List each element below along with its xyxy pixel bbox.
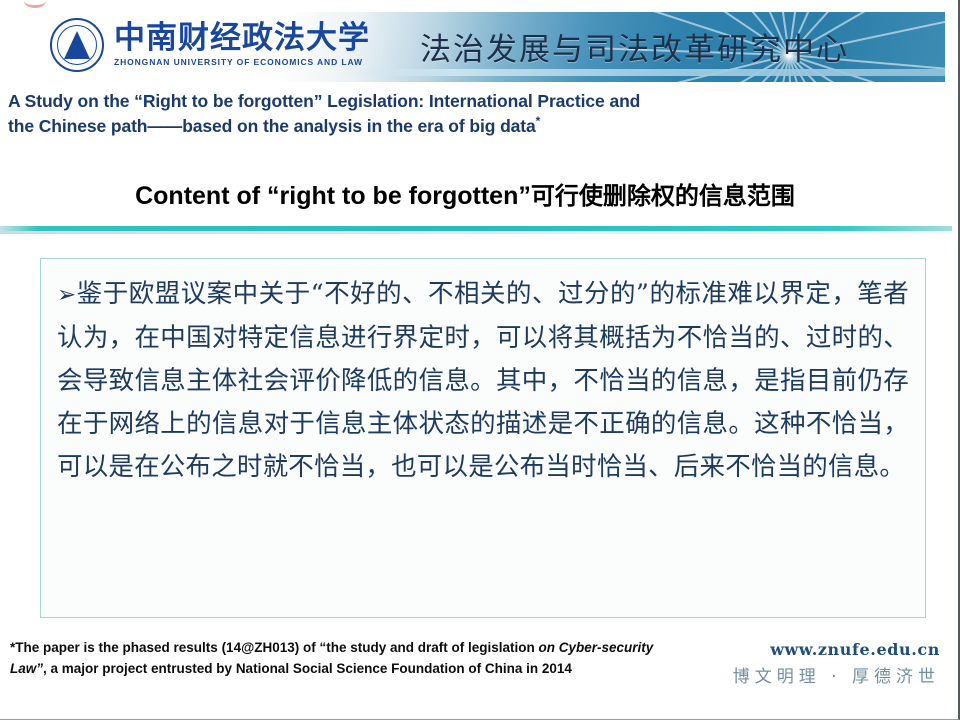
brand-motto: 博文明理 · 厚德济世: [733, 662, 940, 687]
paper-title: A Study on the “Right to be forgotten” L…: [8, 89, 908, 138]
page-title: Content of “right to be forgotten”可行使删除权…: [0, 176, 930, 211]
teal-divider-shadow: [0, 231, 952, 234]
footnote: *The paper is the phased results (14@ZH0…: [10, 638, 670, 680]
brand-url: www.znufe.edu.cn: [733, 640, 940, 659]
research-center-name: 法治发展与司法改革研究中心: [420, 24, 849, 69]
brand-lockup: www.znufe.edu.cn 博文明理 · 厚德济世: [733, 640, 940, 687]
content-box: ➢鉴于欧盟议案中关于“不好的、不相关的、过分的”的标准难以界定，笔者认为，在中国…: [40, 258, 926, 618]
university-logo: 中南财经政法大学 ZHONGNAN UNIVERSITY OF ECONOMIC…: [50, 18, 370, 72]
university-name-cn: 中南财经政法大学: [114, 23, 370, 54]
corner-artifact-mark: [24, 0, 46, 8]
university-seal-icon: [50, 18, 104, 72]
body-paragraph: ➢鉴于欧盟议案中关于“不好的、不相关的、过分的”的标准难以界定，笔者认为，在中国…: [57, 273, 909, 489]
arrow-bullet-icon: ➢: [57, 282, 76, 308]
paper-title-line1: A Study on the “Right to be forgotten” L…: [8, 91, 640, 111]
section-heading-cn: 可行使删除权的信息范围: [531, 182, 795, 210]
section-heading-en: Content of “right to be forgotten”: [135, 182, 531, 210]
university-logo-text: 中南财经政法大学 ZHONGNAN UNIVERSITY OF ECONOMIC…: [114, 23, 370, 67]
paper-title-line2: the Chinese path——based on the analysis …: [8, 116, 536, 136]
footnote-marker: *: [536, 114, 541, 128]
body-paragraph-text: 鉴于欧盟议案中关于“不好的、不相关的、过分的”的标准难以界定，笔者认为，在中国对…: [57, 279, 909, 482]
footnote-part2: , a major project entrusted by National …: [43, 661, 572, 676]
footnote-part1: *The paper is the phased results (14@ZH0…: [10, 640, 539, 655]
slide-canvas: 中南财经政法大学 ZHONGNAN UNIVERSITY OF ECONOMIC…: [0, 0, 960, 720]
university-name-en: ZHONGNAN UNIVERSITY OF ECONOMICS AND LAW: [114, 58, 370, 67]
